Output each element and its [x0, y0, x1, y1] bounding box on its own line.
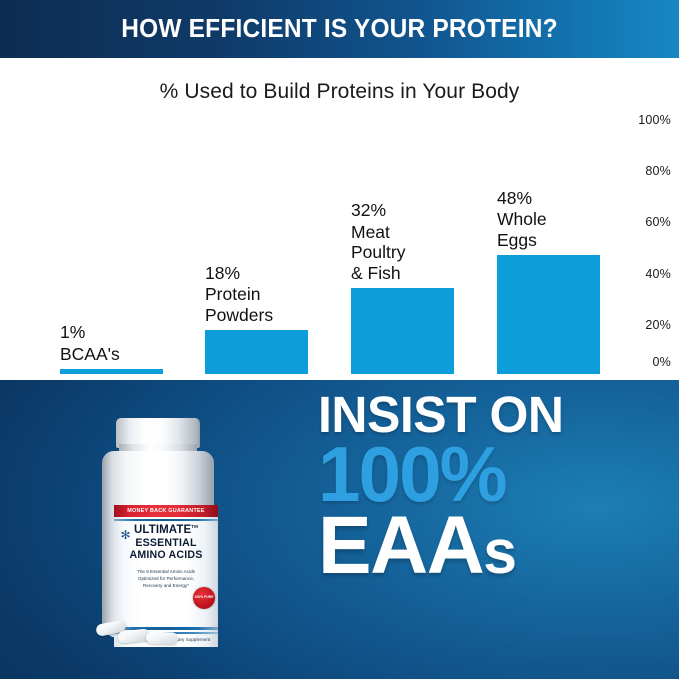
money-back-guarantee-banner: MONEY BACK GUARANTEE	[114, 505, 218, 517]
promo-eaa-suffix: s	[483, 518, 515, 587]
brand-name-amino-acids: AMINO ACIDS	[114, 549, 218, 562]
header-band: HOW EFFICIENT IS YOUR PROTEIN?	[0, 0, 679, 58]
bar-label-meat-poultry-fish: 32% Meat Poultry & Fish	[351, 200, 481, 283]
bar-category-whole-eggs: Whole Eggs	[497, 209, 627, 250]
bottle-body: MONEY BACK GUARANTEE ✻ ULTIMATETM ESSENT…	[102, 451, 214, 638]
y-axis-tick-80: 80%	[615, 164, 671, 178]
label-divider-top	[114, 519, 218, 521]
page-title: HOW EFFICIENT IS YOUR PROTEIN?	[14, 0, 666, 58]
bar-value-meat-poultry-fish: 32%	[351, 200, 481, 222]
purity-seal-badge: 100% PURE	[193, 587, 215, 609]
bar-whole-eggs	[497, 255, 600, 374]
bar-value-whole-eggs: 48%	[497, 188, 627, 210]
product-bottle: MONEY BACK GUARANTEE ✻ ULTIMATETM ESSENT…	[94, 418, 222, 638]
y-axis-tick-100: 100%	[615, 113, 671, 127]
bar-value-bcaas: 1%	[60, 322, 190, 344]
promo-headline: INSIST ON 100% EAAs	[318, 392, 670, 585]
brand-name-essential: ESSENTIAL	[114, 537, 218, 550]
bar-plot: 1% BCAA's 18% Protein Powders 32% Meat P…	[0, 58, 620, 380]
bar-category-bcaas: BCAA's	[60, 344, 190, 364]
bar-label-whole-eggs: 48% Whole Eggs	[497, 188, 627, 250]
bar-value-protein-powders: 18%	[205, 263, 335, 285]
bar-protein-powders	[205, 330, 308, 374]
tablet-pill	[146, 631, 178, 644]
bar-bcaas	[60, 369, 163, 374]
brand-block: ULTIMATETM ESSENTIAL AMINO ACIDS	[114, 525, 218, 562]
y-axis-tick-20: 20%	[615, 318, 671, 332]
promo-line-eaas: EAAs	[318, 507, 663, 585]
infographic-page: HOW EFFICIENT IS YOUR PROTEIN? % Used to…	[0, 0, 679, 679]
brand-ultimate-text: ULTIMATE	[134, 524, 191, 536]
bar-category-protein-powders: Protein Powders	[205, 284, 335, 325]
y-axis-tick-40: 40%	[615, 267, 671, 281]
chart-area: % Used to Build Proteins in Your Body 10…	[0, 58, 679, 380]
bar-label-bcaas: 1% BCAA's	[60, 322, 190, 364]
brand-name-ultimate: ULTIMATETM	[114, 525, 218, 537]
bottle-label: MONEY BACK GUARANTEE ✻ ULTIMATETM ESSENT…	[114, 505, 218, 647]
promo-eaa-main: EAA	[318, 500, 483, 591]
y-axis-tick-0: 0%	[615, 355, 671, 369]
bar-label-protein-powders: 18% Protein Powders	[205, 263, 335, 325]
promo-panel: INSIST ON 100% EAAs MONEY BACK GUARANTEE…	[0, 380, 679, 679]
bar-category-meat-poultry-fish: Meat Poultry & Fish	[351, 222, 481, 283]
bar-meat-poultry-fish	[351, 288, 454, 374]
money-back-guarantee-text: MONEY BACK GUARANTEE	[127, 508, 204, 514]
trademark-symbol: TM	[191, 524, 198, 529]
